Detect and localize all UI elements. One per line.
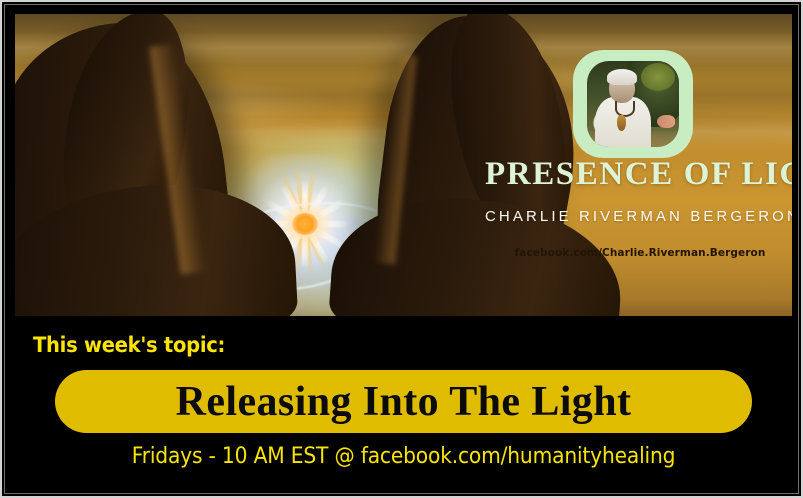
schedule-line: Fridays - 10 AM EST @ facebook.com/human… bbox=[46, 444, 761, 469]
host-name: CHARLIE RIVERMAN BERGERON bbox=[485, 208, 792, 225]
banner-canvas: PRESENCE OF LIGHT CHARLIE RIVERMAN BERGE… bbox=[0, 0, 803, 498]
avatar-hair bbox=[607, 69, 637, 85]
show-title: PRESENCE OF LIGHT bbox=[485, 158, 792, 191]
avatar-foliage-highlight bbox=[641, 63, 675, 91]
host-facebook-url: facebook.com/Charlie.Riverman.Bergeron bbox=[485, 247, 792, 259]
topic-title: Releasing Into The Light bbox=[176, 381, 632, 423]
hero-image: PRESENCE OF LIGHT CHARLIE RIVERMAN BERGE… bbox=[15, 14, 792, 316]
topic-panel: This week's topic: Releasing Into The Li… bbox=[15, 316, 792, 486]
avatar-hand bbox=[657, 115, 675, 128]
avatar-necklace bbox=[615, 101, 635, 117]
topic-label: This week's topic: bbox=[33, 333, 225, 357]
avatar bbox=[573, 50, 693, 158]
topic-pill[interactable]: Releasing Into The Light bbox=[55, 370, 752, 433]
avatar-pendant bbox=[617, 115, 626, 131]
avatar-photo bbox=[587, 61, 679, 147]
